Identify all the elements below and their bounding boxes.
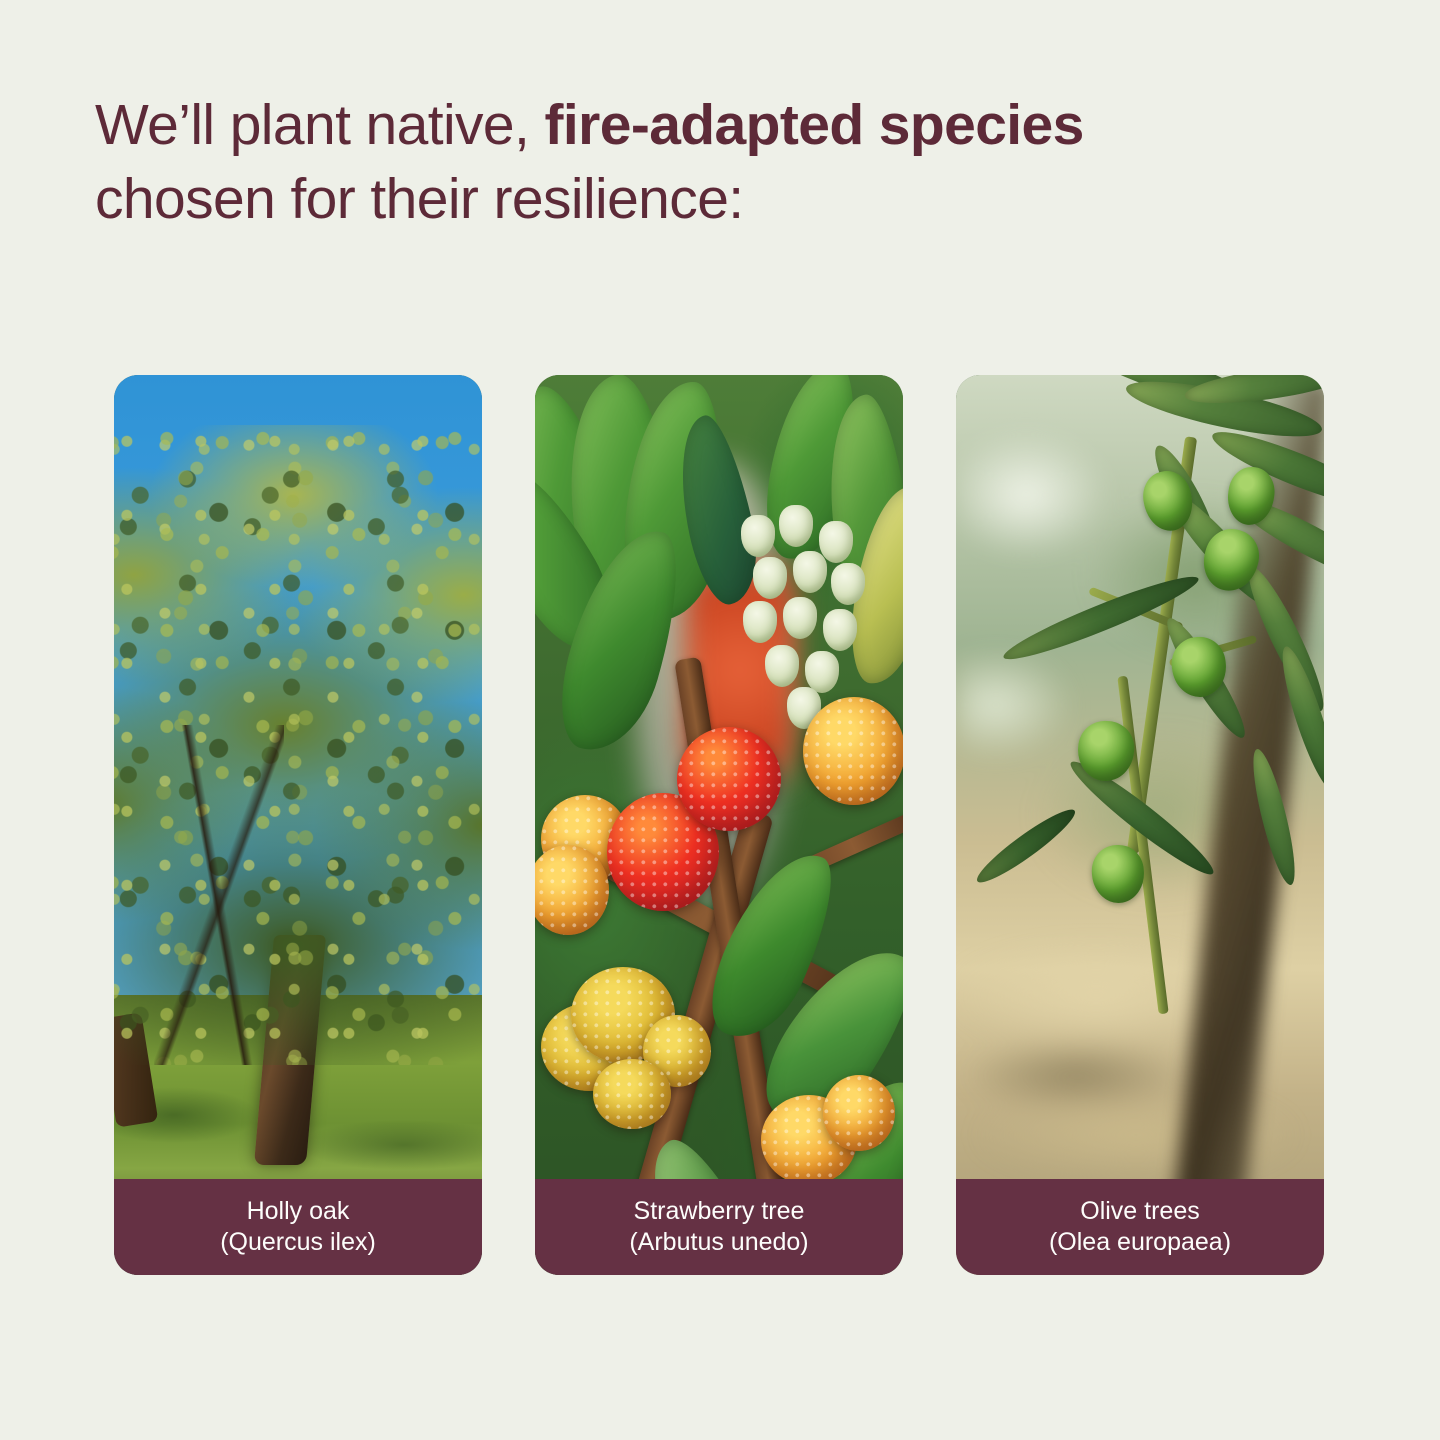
strawberry-tree-photo — [535, 375, 903, 1275]
species-common-name: Olive trees — [1080, 1196, 1199, 1227]
bell-flower — [753, 557, 787, 599]
species-common-name: Strawberry tree — [634, 1196, 805, 1227]
fruit — [677, 727, 781, 831]
species-card-grid: Holly oak (Quercus ilex) — [114, 375, 1325, 1275]
bell-flower — [741, 515, 775, 557]
bell-flower — [743, 601, 777, 643]
card-caption: Holly oak (Quercus ilex) — [114, 1179, 482, 1275]
species-card-olive-trees[interactable]: Olive trees (Olea europaea) — [956, 375, 1324, 1275]
page-title-line2: chosen for their resilience: — [95, 167, 744, 231]
olive-trees-photo — [956, 375, 1324, 1275]
bell-flower — [783, 597, 817, 639]
bell-flower — [779, 505, 813, 547]
page-title-line1-plain: We’ll plant native, — [95, 93, 545, 157]
bell-flower — [831, 563, 865, 605]
page-title: We’ll plant native, fire-adapted species… — [95, 88, 1275, 236]
species-card-holly-oak[interactable]: Holly oak (Quercus ilex) — [114, 375, 482, 1275]
species-card-strawberry-tree[interactable]: Strawberry tree (Arbutus unedo) — [535, 375, 903, 1275]
bell-flower — [823, 609, 857, 651]
fruit — [823, 1075, 895, 1151]
species-latin-name: (Quercus ilex) — [220, 1227, 376, 1258]
species-latin-name: (Arbutus unedo) — [629, 1227, 808, 1258]
tree-canopy — [114, 425, 482, 1065]
page-title-emphasis: fire-adapted species — [545, 93, 1084, 157]
species-common-name: Holly oak — [247, 1196, 350, 1227]
bell-flower — [819, 521, 853, 563]
card-caption: Olive trees (Olea europaea) — [956, 1179, 1324, 1275]
bell-flower — [765, 645, 799, 687]
card-caption: Strawberry tree (Arbutus unedo) — [535, 1179, 903, 1275]
species-latin-name: (Olea europaea) — [1049, 1227, 1231, 1258]
bell-flower — [793, 551, 827, 593]
flower-cluster — [735, 505, 870, 725]
fruit — [593, 1059, 671, 1129]
holly-oak-photo — [114, 375, 482, 1275]
fruit — [803, 697, 903, 805]
